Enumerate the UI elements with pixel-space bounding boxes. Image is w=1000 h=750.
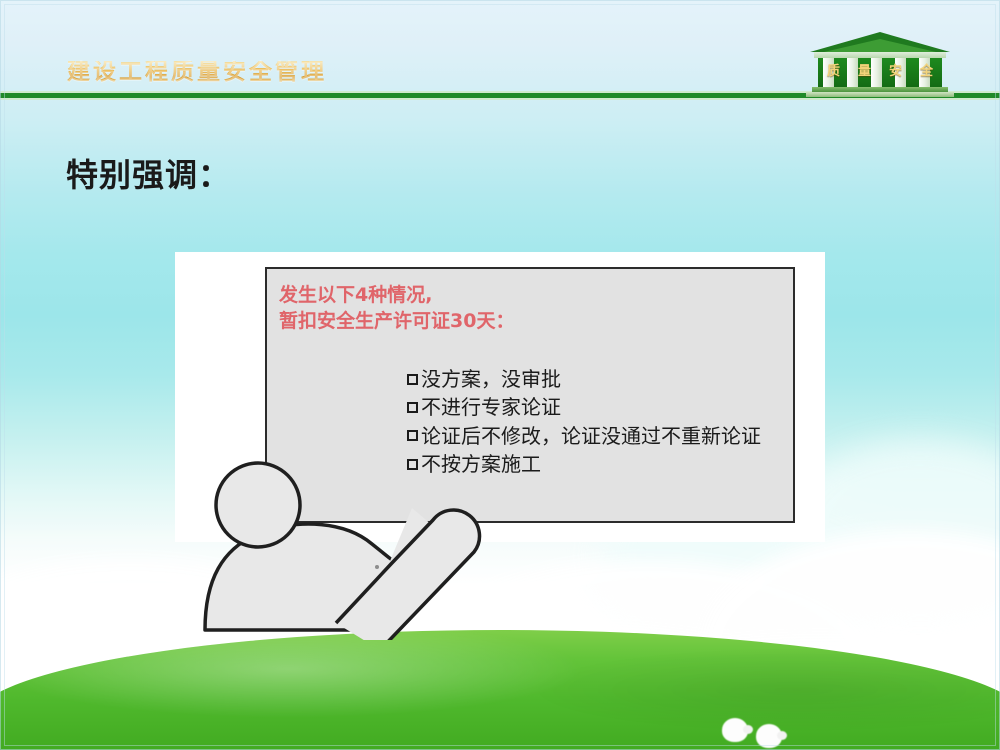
violation-list: 没方案，没审批 不进行专家论证 论证后不修改，论证没通过不重新论证 不按方案施工 (407, 365, 761, 479)
list-item: 没方案，没审批 (407, 365, 761, 393)
page-title: 建设工程质量安全管理 (67, 61, 327, 84)
list-item-label: 不按方案施工 (421, 450, 541, 478)
whiteboard-illustration: 发生以下4种情况, 暂扣安全生产许可证30天： 没方案，没审批 不进行专家论证 … (150, 230, 830, 640)
quality-safety-temple-logo: 质 量 安 全 (806, 32, 954, 97)
board-warning-line-2: 暂扣安全生产许可证30天： (279, 309, 514, 335)
list-item: 论证后不修改，论证没通过不重新论证 (407, 422, 761, 450)
board-warning-line-1: 发生以下4种情况, (279, 283, 514, 309)
grass-shading (0, 630, 1000, 750)
checkbox-icon (407, 459, 418, 470)
emphasis-heading: 特别强调： (66, 150, 231, 196)
logo-char-2: 量 (858, 62, 871, 82)
list-item: 不按方案施工 (407, 450, 761, 478)
list-item-label: 论证后不修改，论证没通过不重新论证 (421, 422, 761, 450)
logo-base-lower (806, 92, 954, 97)
list-item: 不进行专家论证 (407, 393, 761, 421)
presentation-board: 发生以下4种情况, 暂扣安全生产许可证30天： 没方案，没审批 不进行专家论证 … (265, 267, 795, 523)
slide-canvas: 建设工程质量安全管理 质 量 安 全 特别强调： (0, 0, 1000, 750)
logo-char-3: 安 (889, 62, 902, 82)
board-warning-text: 发生以下4种情况, 暂扣安全生产许可证30天： (279, 283, 514, 334)
logo-pediment-inner-icon (824, 39, 936, 52)
list-item-label: 没方案，没审批 (421, 365, 561, 393)
checkbox-icon (407, 430, 418, 441)
logo-char-4: 全 (920, 62, 933, 82)
figure-detail-dot (375, 565, 379, 569)
logo-text: 质 量 安 全 (818, 62, 942, 82)
checkbox-icon (407, 402, 418, 413)
list-item-label: 不进行专家论证 (421, 393, 561, 421)
checkbox-icon (407, 374, 418, 385)
slide-header: 建设工程质量安全管理 质 量 安 全 (0, 0, 1000, 108)
sheep-left (722, 718, 748, 742)
sheep-right (756, 724, 782, 748)
figure-arm-fill (348, 548, 428, 608)
logo-char-1: 质 (827, 62, 840, 82)
